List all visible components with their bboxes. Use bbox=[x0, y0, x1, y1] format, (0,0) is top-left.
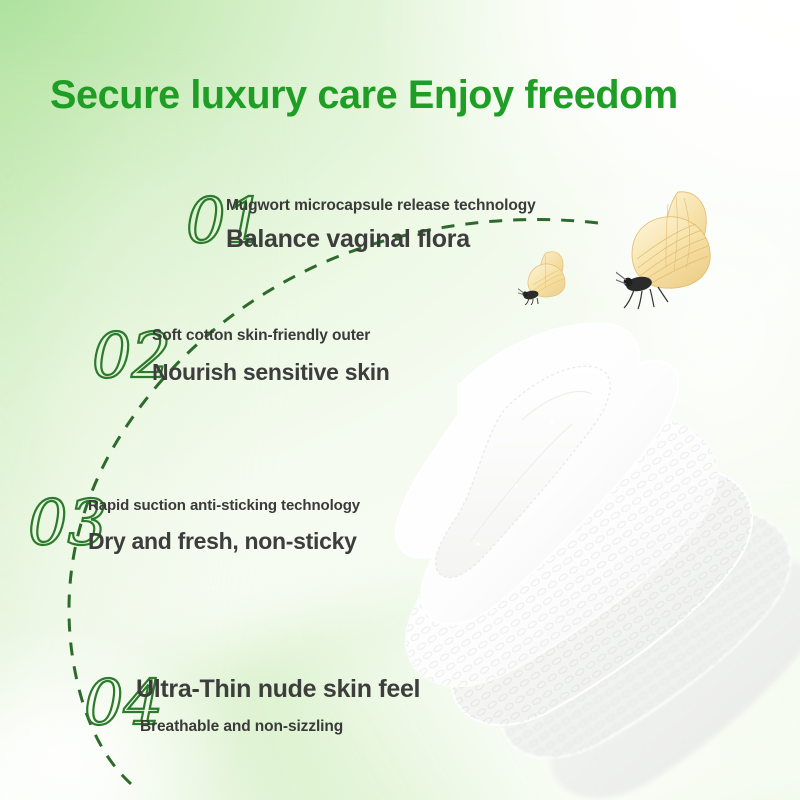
feature-caption-01: Mugwort microcapsule release technology bbox=[226, 197, 536, 215]
page-title: Secure luxury care Enjoy freedom bbox=[50, 73, 678, 118]
feature-headline-02: Nourish sensitive skin bbox=[152, 359, 390, 386]
butterfly-small bbox=[518, 243, 588, 310]
background-bottom-left-glow bbox=[0, 520, 360, 800]
feature-caption-02: Soft cotton skin-friendly outer bbox=[152, 327, 390, 345]
feature-item-02: Soft cotton skin-friendly outer Nourish … bbox=[152, 327, 390, 386]
product-feature-poster: Secure luxury care Enjoy freedom 01 02 0… bbox=[0, 0, 800, 800]
feature-headline-03: Dry and fresh, non-sticky bbox=[88, 528, 360, 555]
feature-caption-03: Rapid suction anti-sticking technology bbox=[88, 497, 360, 514]
feature-headline-01: Balance vaginal flora bbox=[226, 225, 536, 254]
feature-item-04: Ultra-Thin nude skin feel Breathable and… bbox=[136, 675, 420, 736]
feature-caption-04: Breathable and non-sizzling bbox=[140, 718, 420, 736]
feature-item-01: Mugwort microcapsule release technology … bbox=[226, 197, 536, 254]
butterfly-icon bbox=[518, 243, 588, 305]
butterfly-icon bbox=[616, 188, 736, 310]
feature-item-03: Rapid suction anti-sticking technology D… bbox=[88, 497, 360, 555]
butterfly-large bbox=[616, 188, 736, 315]
feature-headline-04: Ultra-Thin nude skin feel bbox=[136, 675, 420, 704]
